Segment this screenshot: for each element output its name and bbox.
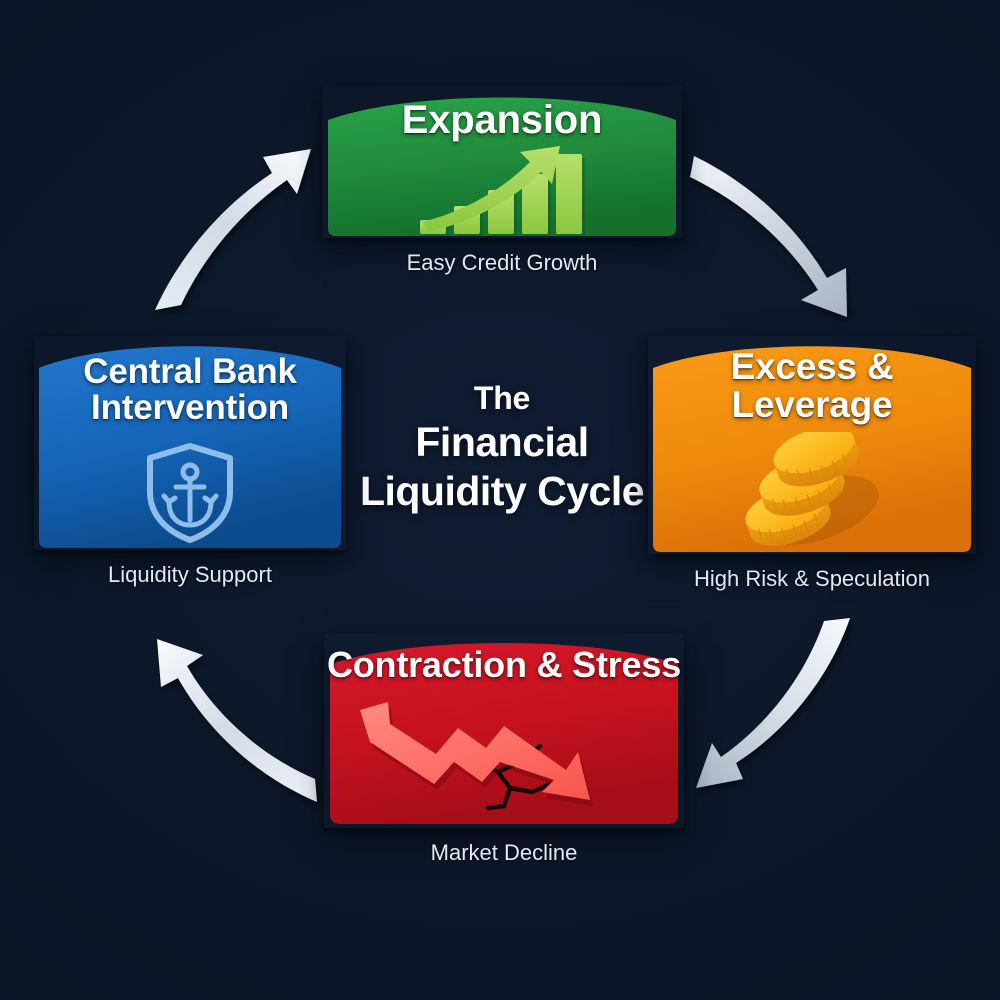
node-expansion-card[interactable]: Expansion: [322, 86, 682, 238]
node-expansion[interactable]: Expansion: [322, 86, 682, 238]
node-excess-leverage[interactable]: Excess & Leverage: [648, 336, 976, 554]
node-central-bank-intervention[interactable]: Central Bank Intervention: [34, 336, 346, 550]
node-contraction-caption: Market Decline: [431, 840, 578, 866]
node-contraction-card[interactable]: Contraction & Stress: [324, 634, 684, 828]
node-excess-caption: High Risk & Speculation: [694, 566, 930, 592]
diagram-canvas: The Financial Liquidity Cycle: [0, 0, 1000, 1000]
node-expansion-title: Expansion: [322, 86, 682, 142]
node-layer: Expansion: [0, 0, 1000, 1000]
growth-bar-chart-icon: [322, 144, 682, 236]
node-central-caption: Liquidity Support: [108, 562, 272, 588]
node-expansion-caption: Easy Credit Growth: [407, 250, 598, 276]
node-contraction-title: Contraction & Stress: [324, 634, 684, 683]
declining-arrow-crack-icon: [324, 696, 684, 814]
gold-coins-icon: [648, 432, 976, 554]
node-central-title-line-2: Intervention: [34, 390, 346, 426]
node-excess-title-line-1: Excess &: [648, 348, 976, 386]
node-central-card[interactable]: Central Bank Intervention: [34, 336, 346, 550]
node-central-title: Central Bank Intervention: [34, 336, 346, 427]
shield-anchor-icon: [34, 440, 346, 544]
node-excess-card[interactable]: Excess & Leverage: [648, 336, 976, 554]
node-excess-title-line-2: Leverage: [648, 386, 976, 424]
node-central-title-line-1: Central Bank: [34, 354, 346, 390]
node-contraction-stress[interactable]: Contraction & Stress: [324, 634, 684, 828]
anchor-glyph: [164, 465, 216, 525]
node-excess-title: Excess & Leverage: [648, 336, 976, 425]
